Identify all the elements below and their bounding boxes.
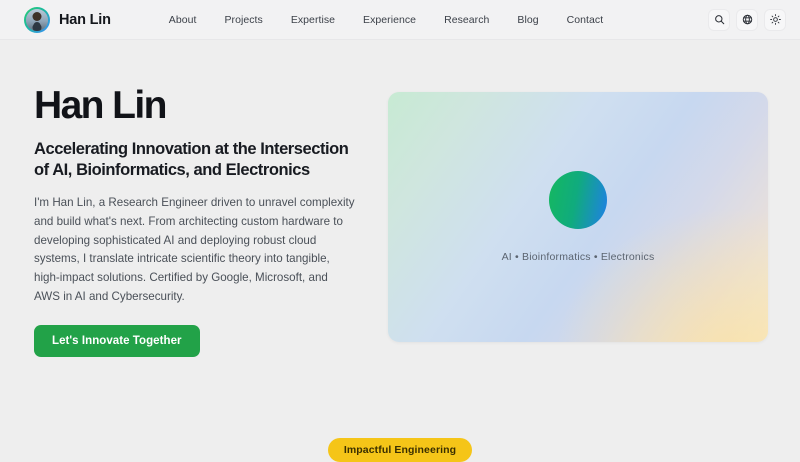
theme-toggle-button[interactable]	[764, 9, 786, 31]
hero-visual-card: AI • Bioinformatics • Electronics	[388, 92, 768, 342]
brand-name: Han Lin	[59, 12, 111, 28]
nav-item-expertise[interactable]: Expertise	[291, 14, 335, 26]
globe-icon	[742, 14, 753, 25]
nav-item-contact[interactable]: Contact	[567, 14, 604, 26]
hero-visual-column: AI • Bioinformatics • Electronics	[388, 86, 768, 357]
nav-item-about[interactable]: About	[169, 14, 197, 26]
bottom-badge-row: Impactful Engineering	[0, 438, 800, 462]
sun-icon	[770, 14, 781, 25]
hero-subtitle: Accelerating Innovation at the Intersect…	[34, 139, 362, 182]
header-actions	[708, 9, 786, 31]
site-header: Han Lin About Projects Expertise Experie…	[0, 0, 800, 40]
hero-text-column: Han Lin Accelerating Innovation at the I…	[34, 86, 364, 357]
nav-item-blog[interactable]: Blog	[517, 14, 538, 26]
avatar	[24, 7, 50, 33]
hero-description: I'm Han Lin, a Research Engineer driven …	[34, 194, 356, 307]
hero-visual-caption: AI • Bioinformatics • Electronics	[502, 251, 655, 263]
nav-item-projects[interactable]: Projects	[224, 14, 262, 26]
language-button[interactable]	[736, 9, 758, 31]
search-icon	[714, 14, 725, 25]
main-nav: About Projects Expertise Experience Rese…	[169, 14, 603, 26]
gradient-orb-icon	[549, 171, 607, 229]
impactful-engineering-badge[interactable]: Impactful Engineering	[328, 438, 472, 462]
innovate-together-button[interactable]: Let's Innovate Together	[34, 325, 200, 357]
nav-item-research[interactable]: Research	[444, 14, 489, 26]
avatar-photo	[26, 9, 48, 31]
nav-item-experience[interactable]: Experience	[363, 14, 416, 26]
search-button[interactable]	[708, 9, 730, 31]
brand[interactable]: Han Lin	[24, 7, 111, 33]
page-title: Han Lin	[34, 86, 364, 127]
hero-section: Han Lin Accelerating Innovation at the I…	[0, 40, 800, 357]
